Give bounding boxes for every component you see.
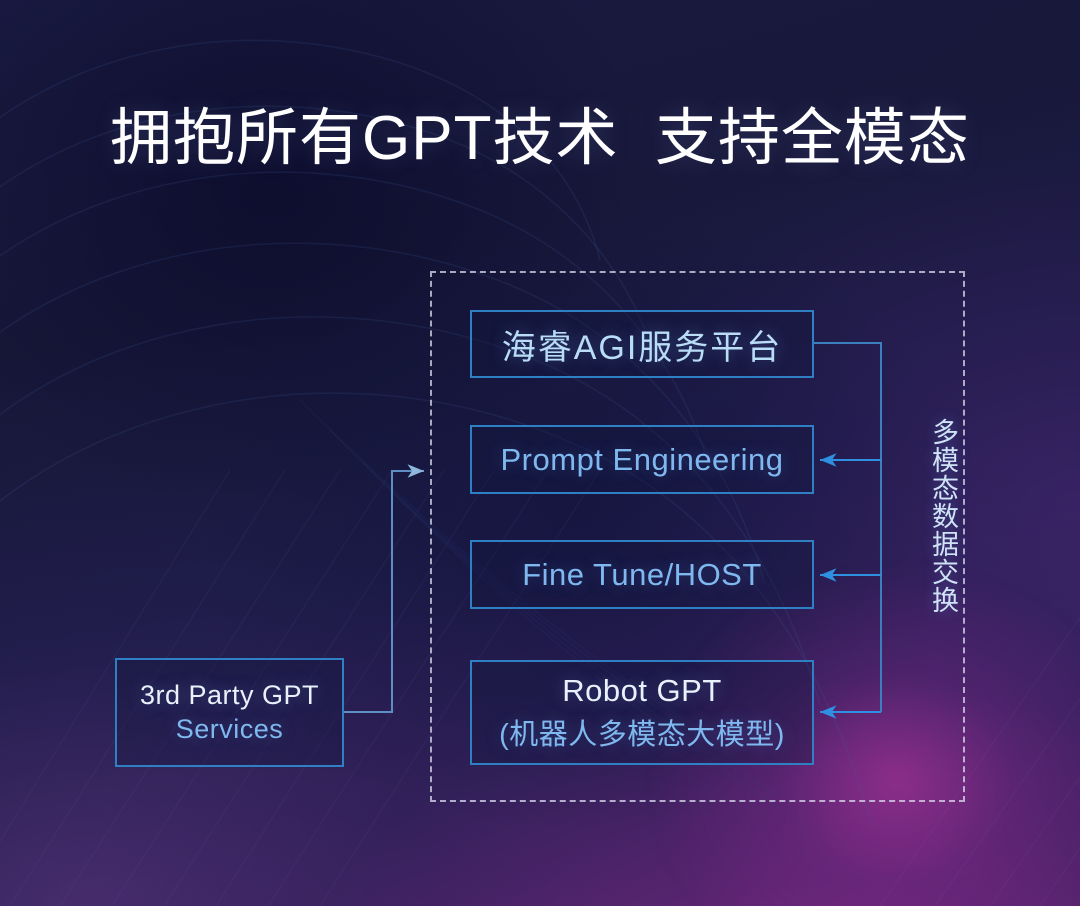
box-prompt-engineering-label: Prompt Engineering [501,442,784,478]
vertical-label-multimodal-exchange: 多模态数据交换 [918,418,958,614]
box-agi-platform[interactable]: 海睿AGI服务平台 [470,310,814,378]
box-agi-platform-label: 海睿AGI服务平台 [502,320,783,369]
box-third-party-gpt-services[interactable]: 3rd Party GPT Services [115,658,344,767]
page-title: 拥抱所有GPT技术 支持全模态 [110,106,970,173]
box-prompt-engineering[interactable]: Prompt Engineering [470,425,814,494]
box-fine-tune-host[interactable]: Fine Tune/HOST [470,540,814,609]
box-fine-tune-host-label: Fine Tune/HOST [522,557,762,593]
slide-canvas: 拥抱所有GPT技术 支持全模态 海睿AGI服务平台 Prompt Enginee… [0,0,1080,906]
box-robot-gpt-title: Robot GPT [562,673,722,709]
box-third-party-gpt-subtitle: Services [176,714,284,745]
box-third-party-gpt-title: 3rd Party GPT [140,680,319,711]
box-robot-gpt[interactable]: Robot GPT (机器人多模态大模型) [470,660,814,765]
box-robot-gpt-subtitle: (机器人多模态大模型) [499,711,785,753]
